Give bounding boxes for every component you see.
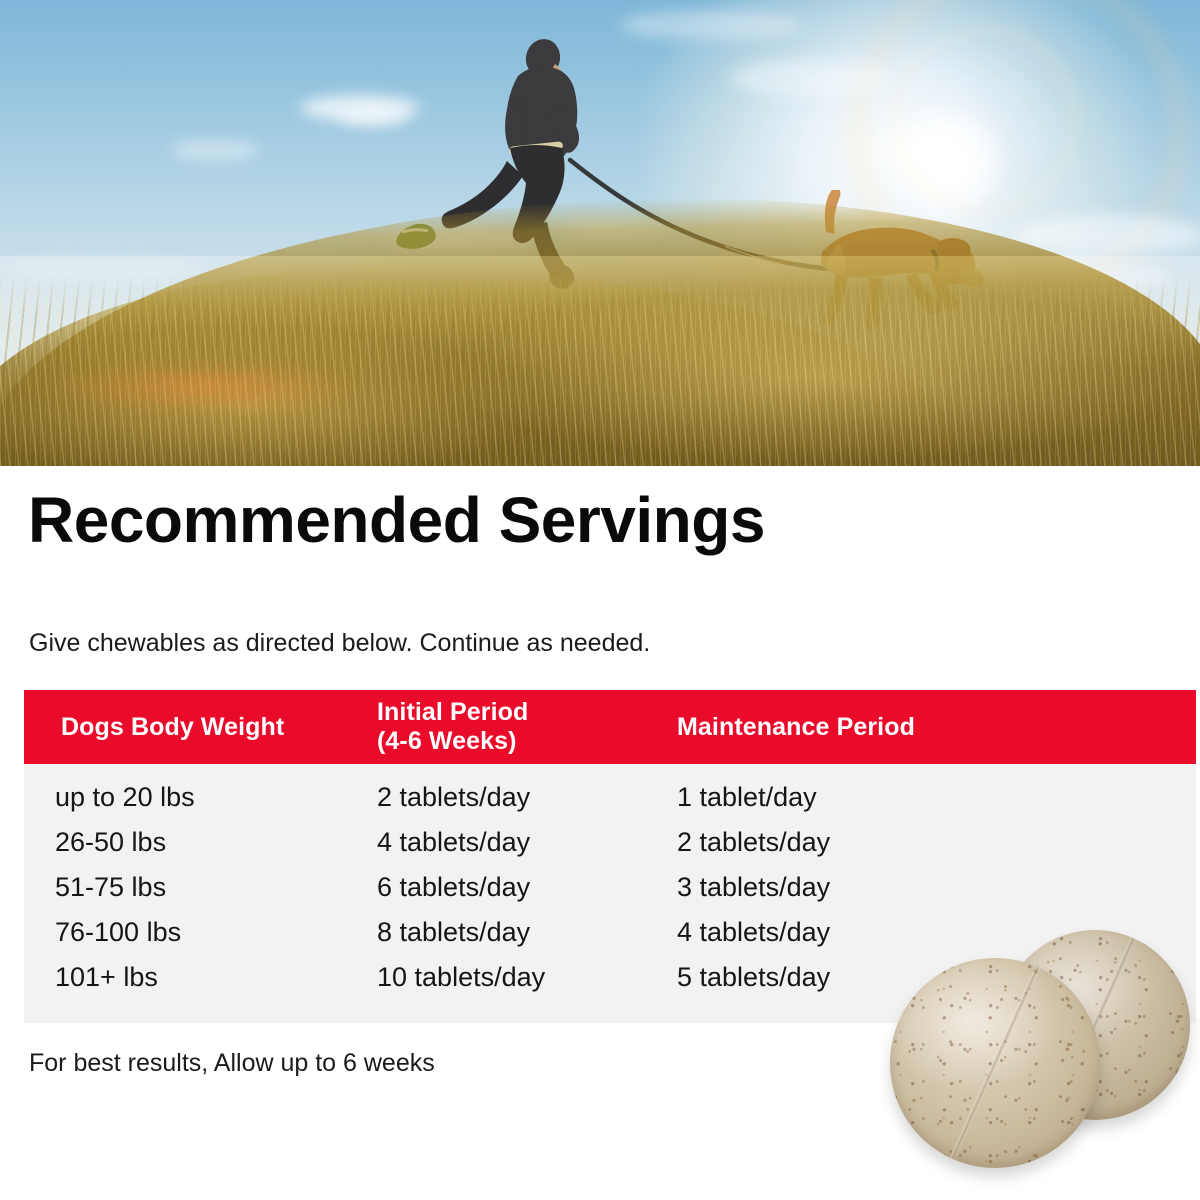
footnote-text: For best results, Allow up to 6 weeks: [29, 1048, 435, 1078]
column-header-initial-period-line2: (4-6 Weeks): [377, 727, 677, 756]
cell-initial: 4 tablets/day: [377, 825, 677, 859]
cell-weight: 26-50 lbs: [24, 825, 377, 859]
cell-weight: up to 20 lbs: [24, 780, 377, 814]
lens-flare-streak-icon: [40, 360, 370, 414]
cell-weight: 101+ lbs: [24, 960, 377, 994]
product-tablets-image: [890, 930, 1190, 1180]
cloud: [620, 10, 800, 40]
instructions-text: Give chewables as directed below. Contin…: [29, 628, 650, 658]
column-header-initial-period: Initial Period (4-6 Weeks): [377, 698, 677, 756]
cloud: [170, 140, 260, 160]
page-title: Recommended Servings: [28, 485, 765, 555]
cell-initial: 8 tablets/day: [377, 915, 677, 949]
cell-initial: 2 tablets/day: [377, 780, 677, 814]
cloud: [730, 60, 890, 96]
hero-photo: [0, 0, 1200, 466]
cell-maintenance: 1 tablet/day: [677, 780, 1196, 814]
cell-initial: 6 tablets/day: [377, 870, 677, 904]
tablet-front: [890, 958, 1100, 1168]
column-header-weight: Dogs Body Weight: [24, 713, 377, 742]
column-header-initial-period-line1: Initial Period: [377, 698, 677, 727]
cell-weight: 76-100 lbs: [24, 915, 377, 949]
table-row: 51-75 lbs 6 tablets/day 3 tablets/day: [24, 870, 1196, 915]
cell-maintenance: 2 tablets/day: [677, 825, 1196, 859]
servings-infographic: Recommended Servings Give chewables as d…: [0, 0, 1200, 1200]
table-header-row: Dogs Body Weight Initial Period (4-6 Wee…: [24, 690, 1196, 764]
cell-initial: 10 tablets/day: [377, 960, 677, 994]
table-row: 26-50 lbs 4 tablets/day 2 tablets/day: [24, 825, 1196, 870]
cell-maintenance: 3 tablets/day: [677, 870, 1196, 904]
column-header-maintenance-period: Maintenance Period: [677, 713, 1196, 742]
cell-weight: 51-75 lbs: [24, 870, 377, 904]
table-row: up to 20 lbs 2 tablets/day 1 tablet/day: [24, 780, 1196, 825]
